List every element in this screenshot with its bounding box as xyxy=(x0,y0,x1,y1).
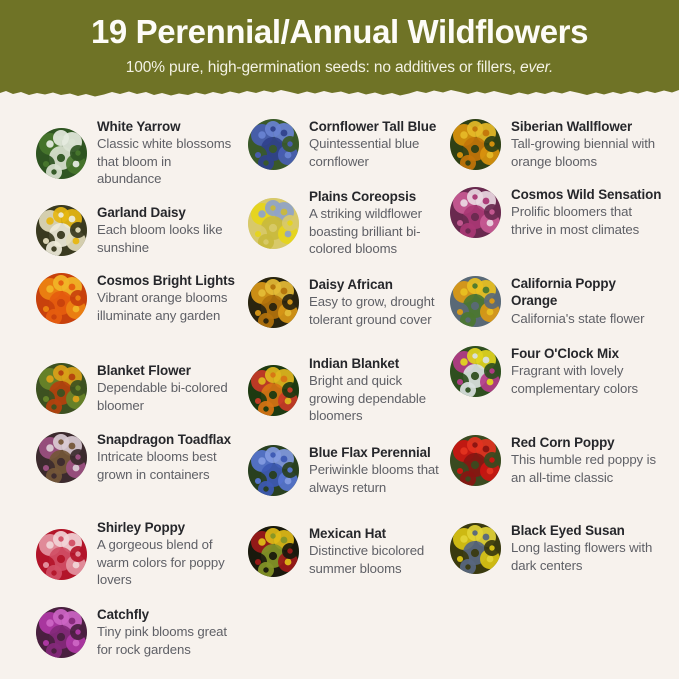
flower-grid: White YarrowClassic white blossoms that … xyxy=(0,104,679,679)
flower-description: This humble red poppy is an all-time cla… xyxy=(511,451,665,486)
flower-description: California's state flower xyxy=(511,310,665,327)
blanket-flower-photo xyxy=(36,363,87,414)
flower-description: Periwinkle blooms that always return xyxy=(309,461,448,496)
mexican-hat-photo xyxy=(248,526,299,577)
daisy-african-photo xyxy=(248,277,299,328)
flower-name: Blanket Flower xyxy=(97,362,236,379)
flower-text-block: White YarrowClassic white blossoms that … xyxy=(97,118,236,188)
flower-description: Easy to grow, drought tolerant ground co… xyxy=(309,293,448,328)
flower-name: Indian Blanket xyxy=(309,355,448,372)
flower-description: Tall-growing biennial with orange blooms xyxy=(511,135,665,170)
flower-text-block: CatchflyTiny pink blooms great for rock … xyxy=(97,606,236,658)
flower-description: Fragrant with lovely complementary color… xyxy=(511,362,665,397)
flower-text-block: Cornflower Tall BlueQuintessential blue … xyxy=(309,118,448,170)
black-eyed-susan-photo xyxy=(450,523,501,574)
catchfly-photo xyxy=(36,607,87,658)
page-subtitle: 100% pure, high-germination seeds: no ad… xyxy=(0,58,679,78)
flower-description: Each bloom looks like sunshine xyxy=(97,221,236,256)
snapdragon-toadflax-photo xyxy=(36,432,87,483)
shirley-poppy-photo xyxy=(36,529,87,580)
plains-coreopsis-photo xyxy=(248,198,299,249)
flower-text-block: Snapdragon ToadflaxIntricate blooms best… xyxy=(97,431,236,483)
cosmos-bright-lights-photo xyxy=(36,273,87,324)
flower-name: Garland Daisy xyxy=(97,204,236,221)
four-oclock-mix-photo xyxy=(450,346,501,397)
flower-name: Snapdragon Toadflax xyxy=(97,431,236,448)
flower-text-block: Black Eyed SusanLong lasting flowers wit… xyxy=(511,522,665,574)
flower-text-block: Blanket FlowerDependable bi-colored bloo… xyxy=(97,362,236,414)
flower-text-block: Mexican HatDistinctive bicolored summer … xyxy=(309,525,448,577)
flower-text-block: Siberian WallflowerTall-growing biennial… xyxy=(511,118,665,170)
blue-flax-perennial-photo xyxy=(248,445,299,496)
flower-description: Dependable bi-colored bloomer xyxy=(97,379,236,414)
garland-daisy-photo xyxy=(36,205,87,256)
flower-description: Vibrant orange blooms illuminate any gar… xyxy=(97,289,236,324)
flower-name: Cosmos Wild Sensation xyxy=(511,186,665,203)
flower-text-block: Cosmos Bright LightsVibrant orange bloom… xyxy=(97,272,236,324)
flower-name: Daisy African xyxy=(309,276,448,293)
flower-text-block: Daisy AfricanEasy to grow, drought toler… xyxy=(309,276,448,328)
flower-name: Blue Flax Perennial xyxy=(309,444,448,461)
flower-text-block: Red Corn PoppyThis humble red poppy is a… xyxy=(511,434,665,486)
flower-name: Four O'Clock Mix xyxy=(511,345,665,362)
flower-name: Cosmos Bright Lights xyxy=(97,272,236,289)
subtitle-emphasis: ever. xyxy=(520,59,553,76)
flower-text-block: Cosmos Wild SensationProlific bloomers t… xyxy=(511,186,665,238)
flower-description: Tiny pink blooms great for rock gardens xyxy=(97,623,236,658)
white-yarrow-photo xyxy=(36,128,87,179)
header-banner: 19 Perennial/Annual Wildflowers 100% pur… xyxy=(0,0,679,98)
flower-text-block: Plains CoreopsisA striking wildflower bo… xyxy=(309,188,448,258)
flower-description: Quintessential blue cornflower xyxy=(309,135,448,170)
page-title: 19 Perennial/Annual Wildflowers xyxy=(0,12,679,52)
flower-description: A striking wildflower boasting brilliant… xyxy=(309,205,448,257)
flower-name: Catchfly xyxy=(97,606,236,623)
flower-description: Classic white blossoms that bloom in abu… xyxy=(97,135,236,187)
cosmos-wild-sensation-photo xyxy=(450,187,501,238)
flower-name: Red Corn Poppy xyxy=(511,434,665,451)
flower-text-block: Shirley PoppyA gorgeous blend of warm co… xyxy=(97,519,236,589)
flower-description: A gorgeous blend of warm colors for popp… xyxy=(97,536,236,588)
indian-blanket-photo xyxy=(248,365,299,416)
flower-name: Plains Coreopsis xyxy=(309,188,448,205)
flower-text-block: California Poppy OrangeCalifornia's stat… xyxy=(511,275,665,327)
siberian-wallflower-photo xyxy=(450,119,501,170)
flower-text-block: Blue Flax PerennialPeriwinkle blooms tha… xyxy=(309,444,448,496)
flower-name: Black Eyed Susan xyxy=(511,522,665,539)
flower-text-block: Four O'Clock MixFragrant with lovely com… xyxy=(511,345,665,397)
flower-description: Intricate blooms best grown in container… xyxy=(97,448,236,483)
flower-description: Prolific bloomers that thrive in most cl… xyxy=(511,203,665,238)
california-poppy-orange-photo xyxy=(450,276,501,327)
flower-description: Long lasting flowers with dark centers xyxy=(511,539,665,574)
flower-name: California Poppy Orange xyxy=(511,275,665,310)
flower-name: Siberian Wallflower xyxy=(511,118,665,135)
flower-name: Mexican Hat xyxy=(309,525,448,542)
cornflower-tall-blue-photo xyxy=(248,119,299,170)
flower-name: Shirley Poppy xyxy=(97,519,236,536)
flower-text-block: Indian BlanketBright and quick growing d… xyxy=(309,355,448,425)
wildflower-seed-infographic: 19 Perennial/Annual Wildflowers 100% pur… xyxy=(0,0,679,679)
flower-name: White Yarrow xyxy=(97,118,236,135)
flower-description: Distinctive bicolored summer blooms xyxy=(309,542,448,577)
red-corn-poppy-photo xyxy=(450,435,501,486)
flower-name: Cornflower Tall Blue xyxy=(309,118,448,135)
flower-description: Bright and quick growing dependable bloo… xyxy=(309,372,448,424)
subtitle-main: 100% pure, high-germination seeds: no ad… xyxy=(126,59,516,76)
flower-text-block: Garland DaisyEach bloom looks like sunsh… xyxy=(97,204,236,256)
